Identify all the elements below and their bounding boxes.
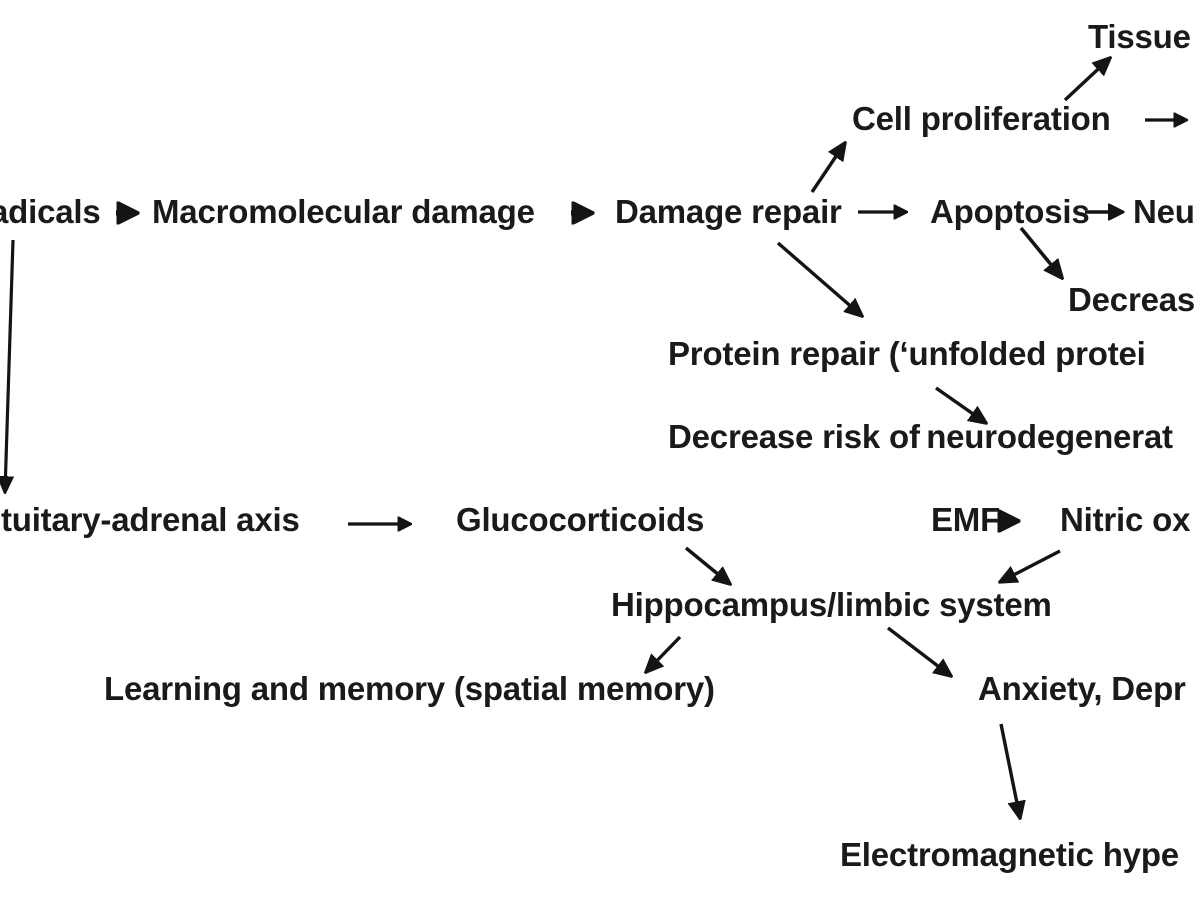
node-free-radicals[interactable]: adicals [0,195,101,228]
node-learning-memory[interactable]: Learning and memory (spatial memory) [104,672,715,705]
node-hippocampus[interactable]: Hippocampus/limbic system [611,588,1052,621]
edge-damage-repair-to-protein-repair [778,243,862,316]
node-tissue[interactable]: Tissue [1088,20,1191,53]
node-neurodegeneration[interactable]: Neu [1133,195,1195,228]
node-anxiety-depression[interactable]: Anxiety, Depr [978,672,1186,705]
edge-cell-proliferation-to-tissue [1065,58,1110,100]
edge-apoptosis-to-decreased [1021,228,1062,278]
node-glucocorticoids[interactable]: Glucocorticoids [456,503,704,536]
edge-damage-repair-to-cell-proliferation [812,143,845,192]
node-hpa-axis[interactable]: ituitary-adrenal axis [0,503,300,536]
node-cell-proliferation[interactable]: Cell proliferation [852,102,1111,135]
node-protein-repair[interactable]: Protein repair (‘unfolded protei [668,337,1146,370]
edge-free-radicals-to-hpa-axis [5,240,13,492]
edge-hippocampus-to-learning-memory [646,637,680,672]
node-electromagnetic-hypersensitivity[interactable]: Electromagnetic hype [840,838,1179,871]
edge-hippocampus-to-anxiety-depression [888,628,951,676]
edge-glucocorticoids-to-hippocampus [686,548,730,584]
node-nitric-oxide[interactable]: Nitric ox [1060,503,1190,536]
node-decrease-risk[interactable]: Decrease risk of neurodegenerat [668,420,1173,453]
edge-anxiety-to-ehs [1001,724,1020,818]
node-macromolecular-damage[interactable]: Macromolecular damage [152,195,535,228]
diagram-canvas: adicals Macromolecular damage Damage rep… [0,0,1200,900]
node-apoptosis[interactable]: Apoptosis [930,195,1090,228]
node-emf[interactable]: EMF [931,503,1000,536]
node-damage-repair[interactable]: Damage repair [615,195,842,228]
node-decreased[interactable]: Decreas [1068,283,1195,316]
edge-nitric-oxide-to-hippocampus [1000,551,1060,582]
